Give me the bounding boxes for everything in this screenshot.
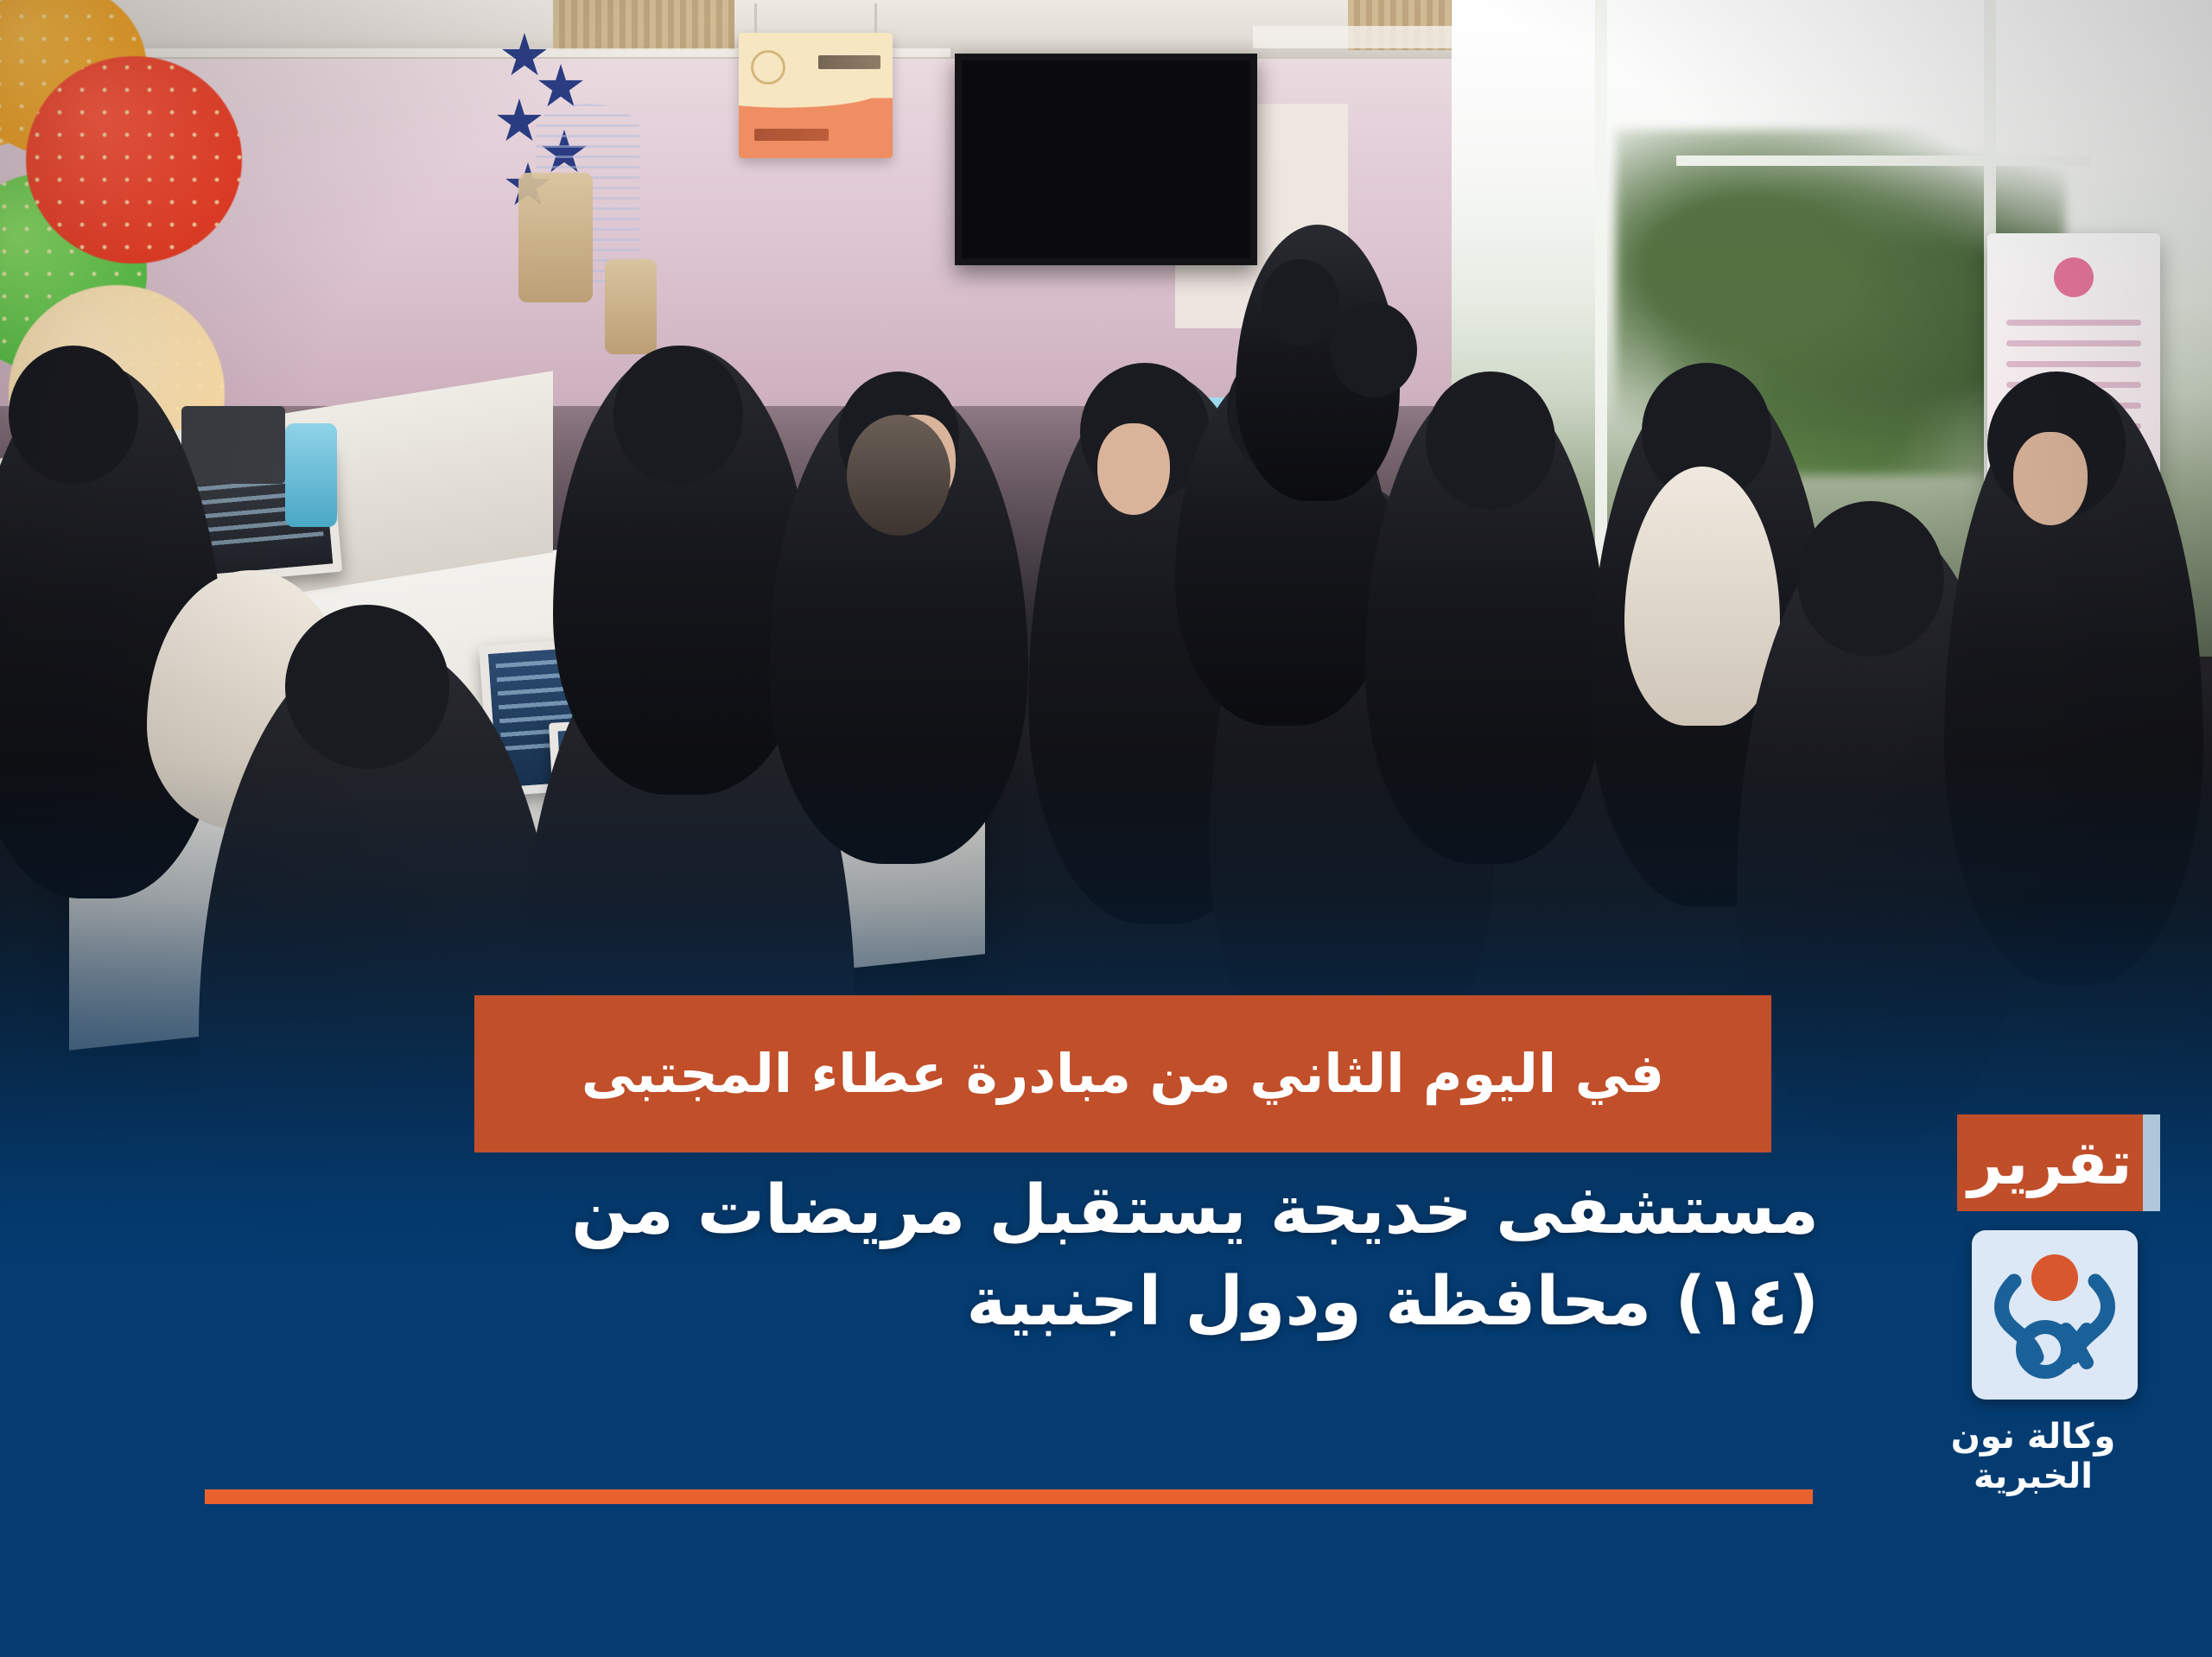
orange-divider	[205, 1489, 1813, 1504]
agency-name: وكالة نون الخبرية	[1908, 1417, 2167, 1496]
headline-line-1: مستشفى خديجة يستقبل مريضات من	[19, 1165, 1819, 1256]
news-card: في اليوم الثاني من مبادرة عطاء المجتبى م…	[0, 0, 2212, 1657]
report-badge: تقرير	[1957, 1114, 2143, 1211]
headline: مستشفى خديجة يستقبل مريضات من (١٤) محافظ…	[0, 1165, 2212, 1348]
headline-line-2: (١٤) محافظة ودول اجنبية	[19, 1256, 1819, 1348]
report-badge-label: تقرير	[1967, 1133, 2132, 1193]
agency-logo	[1972, 1230, 2138, 1400]
kicker-text: في اليوم الثاني من مبادرة عطاء المجتبى	[582, 1045, 1664, 1101]
noon-agency-logo-icon	[1990, 1248, 2120, 1381]
brand-block: تقرير وكالة نون الخبرية	[1908, 1114, 2167, 1496]
kicker-banner: في اليوم الثاني من مبادرة عطاء المجتبى	[474, 995, 1771, 1152]
